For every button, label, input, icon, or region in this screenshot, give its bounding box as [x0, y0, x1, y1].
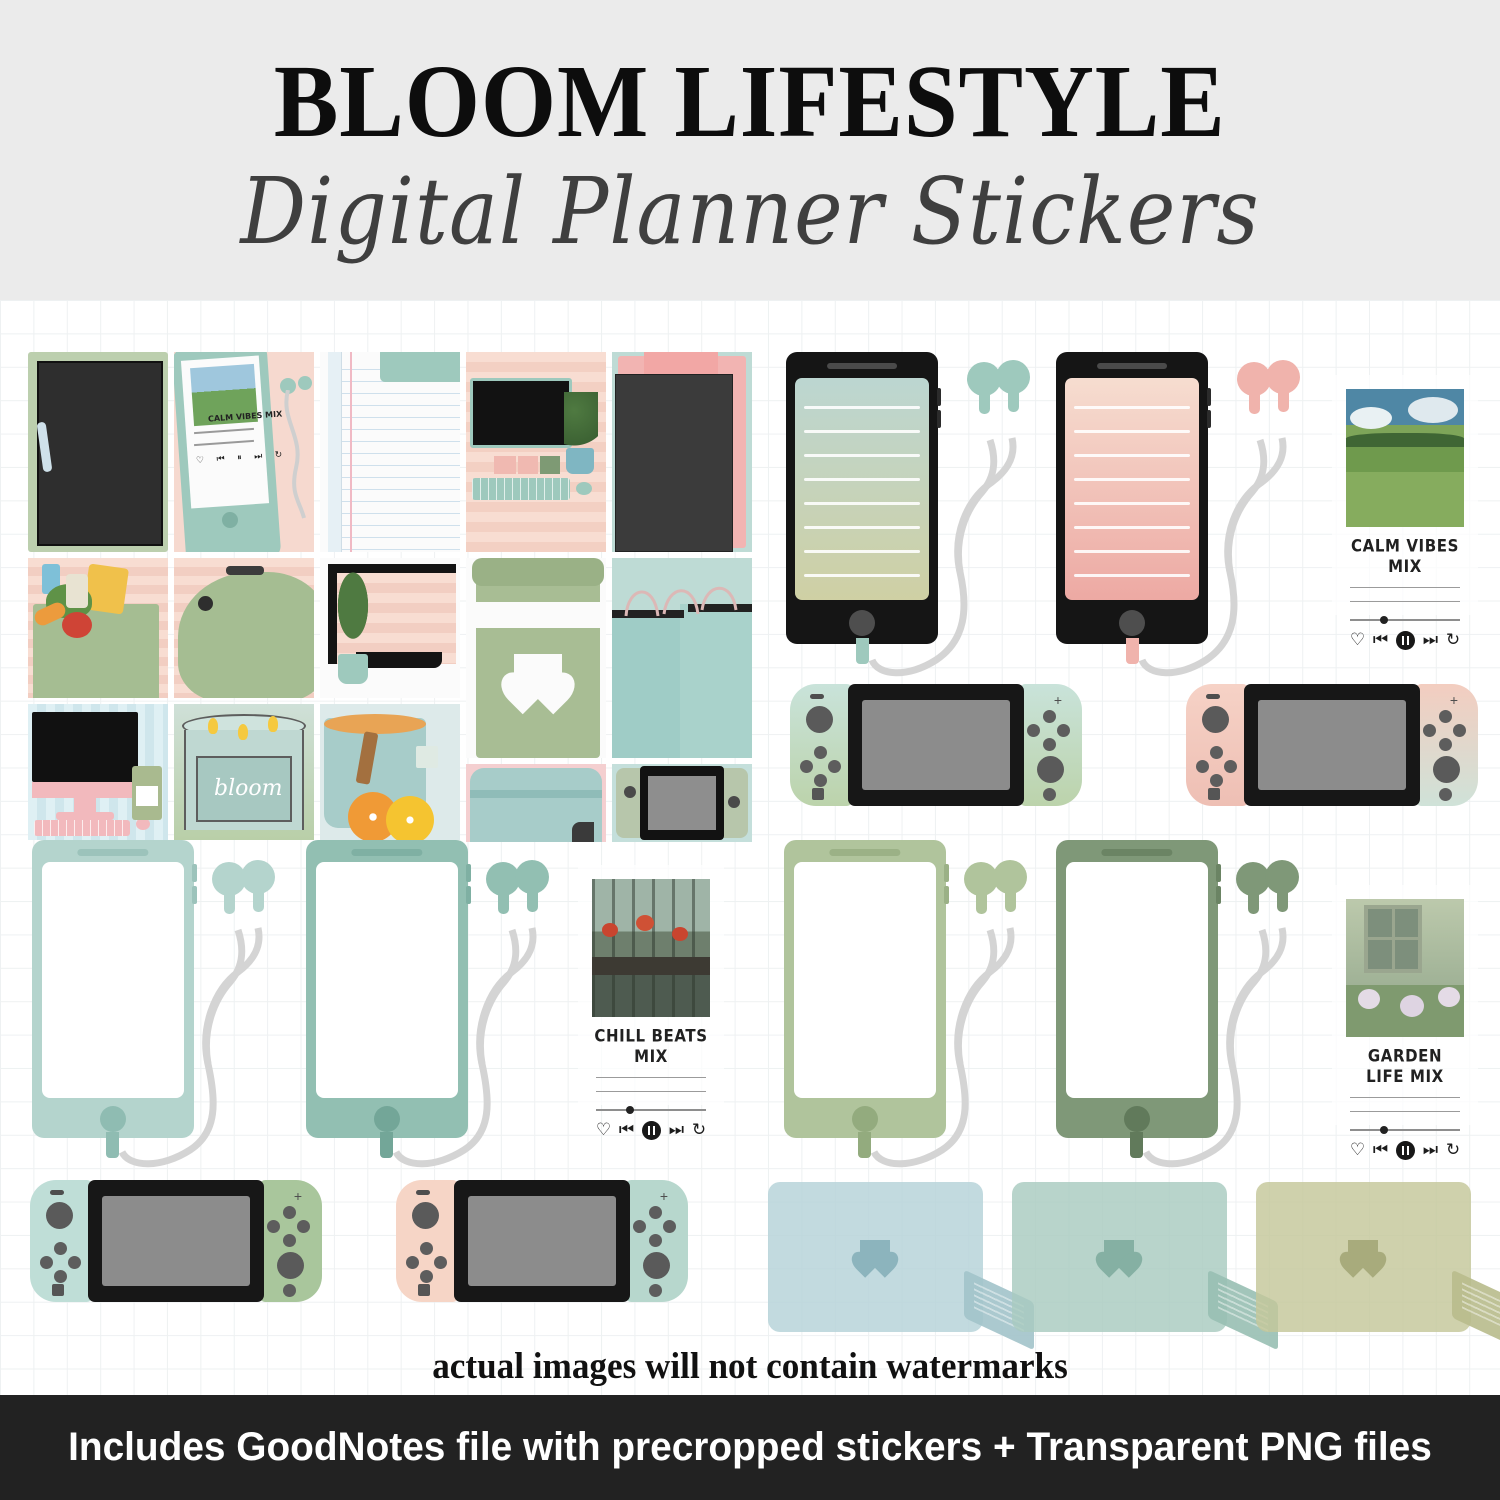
- dpad-right[interactable]: [1224, 760, 1237, 773]
- candle-label: bloom: [214, 776, 282, 801]
- repeat-icon[interactable]: ↻: [692, 1120, 706, 1140]
- button-x[interactable]: [1439, 710, 1452, 723]
- console-mint-gradient[interactable]: +: [790, 684, 1082, 806]
- home-button[interactable]: [649, 1284, 662, 1297]
- progress-thumb[interactable]: [626, 1106, 634, 1114]
- dpad-right[interactable]: [434, 1256, 447, 1269]
- previous-track-icon[interactable]: ⏮: [619, 1120, 634, 1140]
- music-card-garden-life[interactable]: GARDEN LIFE MIX ♡ ⏮ ⏭ ↻: [1332, 885, 1478, 1125]
- repeat-icon[interactable]: ↻: [1446, 1140, 1460, 1160]
- joycon-rail: [50, 1190, 64, 1195]
- card-rule: [1350, 601, 1460, 602]
- dpad-up[interactable]: [420, 1242, 433, 1255]
- progress-bar[interactable]: [1350, 619, 1460, 621]
- right-analog-stick[interactable]: [1037, 756, 1064, 783]
- sticker-bloom-candle[interactable]: bloom: [174, 704, 314, 840]
- earbud-stem: [1008, 386, 1019, 412]
- dpad-down[interactable]: [814, 774, 827, 787]
- earbud-cord-icon: [274, 390, 314, 520]
- dpad-left[interactable]: [40, 1256, 53, 1269]
- header-banner: BLOOM LIFESTYLE Digital Planner Stickers: [0, 0, 1500, 300]
- right-analog-stick[interactable]: [1433, 756, 1460, 783]
- progress-bar[interactable]: [1350, 1129, 1460, 1131]
- home-button[interactable]: [283, 1284, 296, 1297]
- plus-icon: +: [1450, 692, 1458, 708]
- console-screen: [1258, 700, 1406, 790]
- home-button[interactable]: [1439, 788, 1452, 801]
- button-y[interactable]: [267, 1220, 280, 1233]
- earbud-cord-icon: [840, 360, 1090, 680]
- card-rule: [1350, 1111, 1460, 1112]
- next-track-icon[interactable]: ⏭: [669, 1120, 684, 1140]
- home-button[interactable]: [1043, 788, 1056, 801]
- dpad-left[interactable]: [800, 760, 813, 773]
- console-screen: [102, 1196, 250, 1286]
- laptop-teal[interactable]: [1012, 1182, 1282, 1338]
- button-y[interactable]: [1423, 724, 1436, 737]
- button-b[interactable]: [1043, 738, 1056, 751]
- earbud-cord-icon: [92, 848, 322, 1170]
- music-card-title: GARDEN LIFE MIX: [1346, 1045, 1464, 1086]
- console-mint-green[interactable]: +: [30, 1180, 322, 1302]
- music-card-title: CALM VIBES MIX: [1346, 535, 1464, 576]
- earbud-cord-icon: [366, 848, 596, 1170]
- sticker-shopping-bags[interactable]: [612, 558, 752, 758]
- earbud-stem: [1278, 386, 1289, 412]
- page-title: BLOOM LIFESTYLE: [274, 50, 1226, 154]
- heart-icon[interactable]: ♡: [1350, 630, 1365, 650]
- music-controls[interactable]: ♡ ⏮ ⏭ ↻: [592, 1120, 710, 1140]
- capture-button[interactable]: [52, 1284, 64, 1296]
- laptop-olive[interactable]: [1256, 1182, 1500, 1338]
- earbud-stem: [976, 888, 987, 914]
- console-peach-mint[interactable]: +: [396, 1180, 688, 1302]
- joycon-rail: [810, 694, 824, 699]
- plus-icon: +: [660, 1188, 668, 1204]
- sticker-grocery-bag[interactable]: [28, 558, 168, 698]
- card-rule: [596, 1077, 706, 1078]
- card-rule: [1350, 1097, 1460, 1098]
- heart-icon: [860, 1240, 890, 1268]
- button-y[interactable]: [1027, 724, 1040, 737]
- console-screen: [468, 1196, 616, 1286]
- button-a[interactable]: [1057, 724, 1070, 737]
- music-card-title: CHILL BEATS MIX: [592, 1025, 710, 1066]
- sticker-desk-monitor-keyboard-plant[interactable]: [466, 352, 606, 552]
- joycon-rail: [416, 1190, 430, 1195]
- pause-icon[interactable]: [1396, 631, 1415, 650]
- button-a[interactable]: [297, 1220, 310, 1233]
- dpad-left[interactable]: [1196, 760, 1209, 773]
- music-card-chill-beats[interactable]: CHILL BEATS MIX ♡ ⏮ ⏭ ↻: [578, 865, 724, 1105]
- joycon-rail: [1206, 694, 1220, 699]
- sticker-phone-music-player[interactable]: CALM VIBES MIX ♡ ⏮ ⏸ ⏭ ↻: [174, 352, 314, 552]
- heart-icon[interactable]: ♡: [596, 1120, 611, 1140]
- capture-button[interactable]: [418, 1284, 430, 1296]
- button-b[interactable]: [649, 1234, 662, 1247]
- earbud-stem: [1248, 888, 1259, 914]
- plus-icon: +: [294, 1188, 302, 1204]
- progress-thumb[interactable]: [1380, 616, 1388, 624]
- button-y[interactable]: [633, 1220, 646, 1233]
- next-track-icon[interactable]: ⏭: [1423, 630, 1438, 650]
- button-x[interactable]: [1043, 710, 1056, 723]
- earbud-cord-icon: [844, 848, 1074, 1170]
- right-analog-stick[interactable]: [277, 1252, 304, 1279]
- button-a[interactable]: [1453, 724, 1466, 737]
- capture-button[interactable]: [1208, 788, 1220, 800]
- left-analog-stick[interactable]: [806, 706, 833, 733]
- left-analog-stick[interactable]: [46, 1202, 73, 1229]
- left-analog-stick[interactable]: [412, 1202, 439, 1229]
- card-rule: [596, 1091, 706, 1092]
- sticker-preview-canvas: CALM VIBES MIX ♡ ⏮ ⏸ ⏭ ↻: [0, 300, 1500, 1415]
- button-x[interactable]: [283, 1206, 296, 1219]
- footer-banner: Includes GoodNotes file with precropped …: [0, 1395, 1500, 1500]
- dpad-up[interactable]: [814, 746, 827, 759]
- button-a[interactable]: [663, 1220, 676, 1233]
- sticker-tea-mug-orange-slices[interactable]: [320, 704, 460, 840]
- dpad-down[interactable]: [1210, 774, 1223, 787]
- earbud-stem: [224, 888, 235, 914]
- heart-icon: [1104, 1240, 1134, 1268]
- sticker-pink-clipboard-chalkboard[interactable]: [612, 352, 752, 552]
- sticker-mint-kettle[interactable]: [466, 764, 606, 842]
- dpad-up[interactable]: [54, 1242, 67, 1255]
- dpad-down[interactable]: [420, 1270, 433, 1283]
- next-track-icon[interactable]: ⏭: [1423, 1140, 1438, 1160]
- dpad-down[interactable]: [54, 1270, 67, 1283]
- dpad-right[interactable]: [828, 760, 841, 773]
- dpad-right[interactable]: [68, 1256, 81, 1269]
- music-card-calm-vibes[interactable]: CALM VIBES MIX ♡ ⏮ ⏭ ↻: [1332, 375, 1478, 615]
- earbud-stem: [253, 886, 264, 912]
- page-subtitle: Digital Planner Stickers: [240, 165, 1259, 261]
- capture-button[interactable]: [812, 788, 824, 800]
- progress-bar[interactable]: [596, 1109, 706, 1111]
- earbud-stem: [1005, 886, 1016, 912]
- earbud-stem: [1277, 886, 1288, 912]
- sticker-tablet-with-stylus[interactable]: [28, 352, 168, 552]
- sticker-plant-and-monitor[interactable]: [320, 558, 460, 698]
- album-art-garden-window: [1346, 899, 1464, 1037]
- album-art-rolling-hills: [1346, 389, 1464, 527]
- right-analog-stick[interactable]: [643, 1252, 670, 1279]
- dpad-up[interactable]: [1210, 746, 1223, 759]
- previous-track-icon[interactable]: ⏮: [1373, 1140, 1388, 1160]
- heart-icon: [1348, 1240, 1378, 1268]
- sticker-coffee-cup-heart[interactable]: [466, 558, 606, 758]
- repeat-icon[interactable]: ↻: [1446, 630, 1460, 650]
- earbud-stem: [1249, 388, 1260, 414]
- album-art-greenhouse: [592, 879, 710, 1017]
- laptop-light-blue[interactable]: [768, 1182, 1038, 1338]
- earbud-cord-icon: [1116, 848, 1346, 1170]
- button-b[interactable]: [1439, 738, 1452, 751]
- previous-track-icon[interactable]: ⏮: [1373, 630, 1388, 650]
- watermark-disclaimer: actual images will not contain watermark…: [38, 1345, 1463, 1388]
- progress-thumb[interactable]: [1380, 1126, 1388, 1134]
- left-analog-stick[interactable]: [1202, 706, 1229, 733]
- button-b[interactable]: [283, 1234, 296, 1247]
- earbud-cord-icon: [1110, 360, 1360, 680]
- heart-icon[interactable]: ♡: [1350, 1140, 1365, 1160]
- earbud-stem: [498, 888, 509, 914]
- footer-text: Includes GoodNotes file with precropped …: [68, 1425, 1432, 1470]
- earbud-stem: [527, 886, 538, 912]
- pause-icon[interactable]: [642, 1121, 661, 1140]
- pause-icon[interactable]: [1396, 1141, 1415, 1160]
- card-rule: [1350, 587, 1460, 588]
- sticker-handheld-console[interactable]: [612, 764, 752, 842]
- console-pink-gradient[interactable]: +: [1186, 684, 1478, 806]
- earbud-stem: [979, 388, 990, 414]
- dpad-left[interactable]: [406, 1256, 419, 1269]
- sticker-lined-notepad[interactable]: [320, 352, 460, 552]
- sticker-desktop-computer-candle[interactable]: [28, 704, 168, 840]
- sticker-piggy-bank[interactable]: [174, 558, 314, 698]
- plus-icon: +: [1054, 692, 1062, 708]
- button-x[interactable]: [649, 1206, 662, 1219]
- music-controls[interactable]: ♡ ⏮ ⏭ ↻: [1346, 630, 1464, 650]
- music-controls[interactable]: ♡ ⏮ ⏭ ↻: [1346, 1140, 1464, 1160]
- console-screen: [862, 700, 1010, 790]
